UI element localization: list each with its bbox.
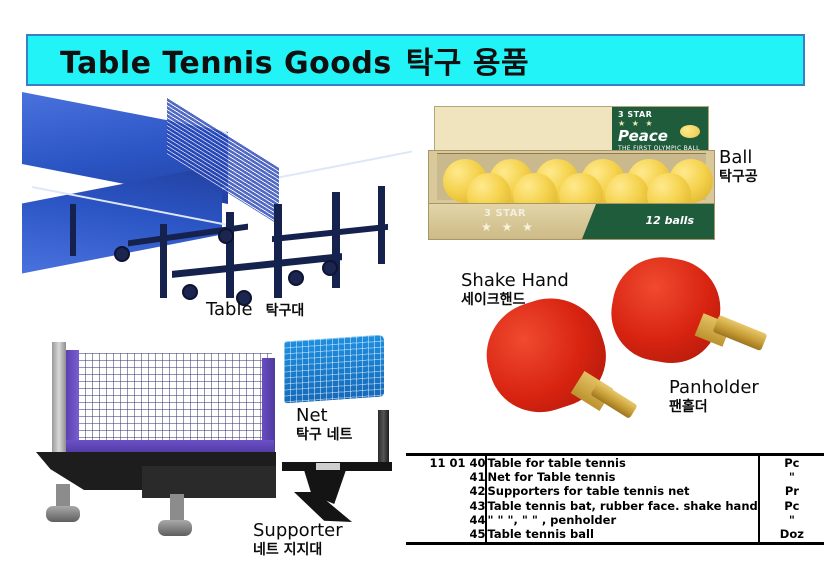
table-row: 43 Table tennis bat, rubber face. shake …: [406, 499, 824, 513]
panholder-racket-image: [612, 258, 812, 388]
shake-hand-caption: Shake Hand 세이크핸드: [461, 271, 569, 308]
supporter-caption-english: Supporter: [253, 521, 343, 542]
shake-hand-caption-english: Shake Hand: [461, 271, 569, 292]
table-row: 11 01 40 Table for table tennis Pc: [406, 456, 824, 470]
table-tennis-table-image: [22, 112, 417, 297]
page-title: Table Tennis Goods탁구 용품: [60, 38, 529, 82]
row-description: Table tennis ball: [486, 528, 758, 542]
net-caption-english: Net: [296, 406, 352, 427]
table-wheel: [288, 270, 304, 286]
row-description: " " ", " " , penholder: [486, 513, 758, 527]
row-description: Table for table tennis: [486, 456, 758, 470]
table-wheel: [322, 260, 338, 276]
ball-caption-english: Ball: [719, 148, 758, 169]
ball-box-star-rating-top: 3 STAR: [618, 110, 704, 119]
row-unit: Doz: [759, 528, 824, 542]
net-base-secondary: [142, 466, 276, 498]
product-code-table: 11 01 40 Table for table tennis Pc 41 Ne…: [406, 453, 824, 545]
table-row: 42 Supporters for table tennis net Pr: [406, 485, 824, 499]
ball-box-front-panel: 3 STAR ★ ★ ★ 12 balls: [429, 203, 714, 239]
table-wheel: [182, 284, 198, 300]
table-row: 41 Net for Table tennis ": [406, 470, 824, 484]
net-post: [52, 342, 66, 454]
racket-head: [604, 249, 728, 370]
page-title-banner: Table Tennis Goods탁구 용품: [26, 34, 805, 86]
table-wheel: [218, 228, 234, 244]
ball-box-lid-green-panel: 3 STAR ★ ★ ★ Peace THE FIRST OLYMPIC BAL…: [612, 107, 708, 151]
code-table-grid: 11 01 40 Table for table tennis Pc 41 Ne…: [406, 456, 824, 542]
row-code: 11 01 40: [406, 456, 486, 470]
net-edge-left: [66, 350, 79, 454]
panholder-caption: Panholder 팬홀더: [669, 378, 759, 415]
ball-box-image: 3 STAR ★ ★ ★ Peace THE FIRST OLYMPIC BAL…: [428, 106, 715, 240]
table-caption-korean: 탁구대: [266, 303, 305, 319]
ball-box-front-green-panel: 12 balls: [582, 204, 714, 239]
table-row: 45 Table tennis ball Doz: [406, 528, 824, 542]
ball-box-star-rating-front: 3 STAR: [484, 208, 526, 219]
folded-net-image: [284, 335, 384, 404]
ball-box-lid-ball-graphic: [680, 125, 700, 138]
net-caption-korean: 탁구 네트: [296, 427, 352, 443]
row-unit: ": [759, 470, 824, 484]
table-leg: [274, 204, 282, 298]
row-code: 42: [406, 485, 486, 499]
supporter-caption: Supporter 네트 지지대: [253, 521, 343, 558]
table-cross-bar: [272, 224, 388, 242]
net-bottom-band: [66, 440, 274, 454]
ball-box-tray: 3 STAR ★ ★ ★ 12 balls: [428, 150, 715, 240]
row-code: 43: [406, 499, 486, 513]
table-wheel: [114, 246, 130, 262]
net-clamp-screw: [170, 494, 184, 520]
net-clamp-knob: [158, 520, 192, 536]
ball-box-stars-front: ★ ★ ★: [481, 220, 536, 234]
table-caption-english: Table: [206, 299, 253, 320]
row-unit: Pc: [759, 499, 824, 513]
row-unit: Pc: [759, 456, 824, 470]
row-code: 45: [406, 528, 486, 542]
net-caption: Net 탁구 네트: [296, 406, 352, 443]
row-code: 41: [406, 470, 486, 484]
page-title-english: Table Tennis Goods: [60, 46, 392, 81]
supporter-label-plate: [316, 463, 340, 471]
table-caption: Table 탁구대: [206, 300, 304, 321]
ball-box-lid: 3 STAR ★ ★ ★ Peace THE FIRST OLYMPIC BAL…: [434, 106, 709, 152]
supporter-post: [378, 410, 389, 466]
net-image: [30, 336, 276, 552]
table-row: 44 " " ", " " , penholder ": [406, 513, 824, 527]
row-unit: Pr: [759, 485, 824, 499]
ball-box-quantity: 12 balls: [645, 214, 694, 227]
row-description: Net for Table tennis: [486, 470, 758, 484]
supporter-image: [282, 452, 394, 526]
shake-hand-caption-korean: 세이크핸드: [461, 292, 569, 308]
row-code: 44: [406, 513, 486, 527]
table-cross-bar: [172, 253, 342, 278]
row-unit: ": [759, 513, 824, 527]
supporter-caption-korean: 네트 지지대: [253, 542, 343, 558]
row-description: Supporters for table tennis net: [486, 485, 758, 499]
page-title-korean: 탁구 용품: [406, 46, 529, 81]
ball-caption: Ball 탁구공: [719, 148, 758, 185]
net-clamp-knob: [46, 506, 80, 522]
panholder-caption-korean: 팬홀더: [669, 399, 759, 415]
ball-caption-korean: 탁구공: [719, 169, 758, 185]
code-table-body: 11 01 40 Table for table tennis Pc 41 Ne…: [406, 456, 824, 542]
row-description: Table tennis bat, rubber face. shake han…: [486, 499, 758, 513]
table-leg: [70, 204, 76, 256]
panholder-caption-english: Panholder: [669, 378, 759, 399]
